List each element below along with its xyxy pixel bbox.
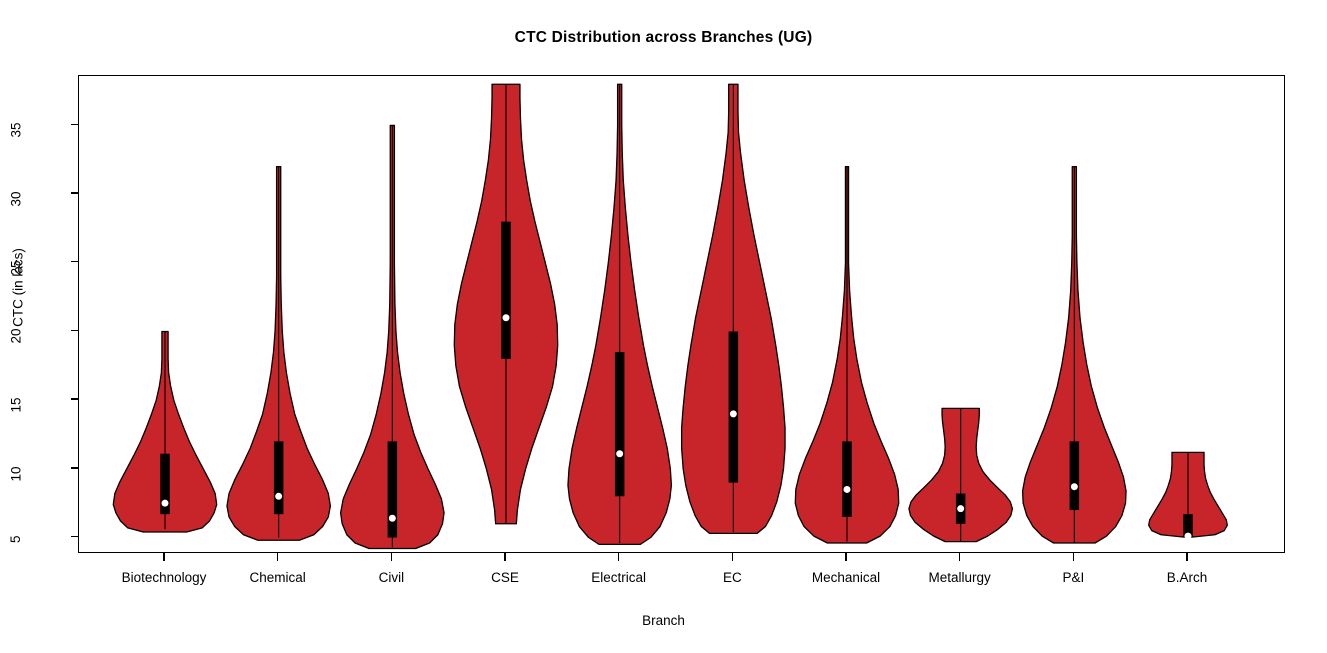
x-axis-tick-mark [1073, 553, 1074, 561]
y-axis-tick-mark [71, 536, 78, 537]
x-axis-tick-label-biotechnology: Biotechnology [122, 570, 207, 585]
x-axis-title: Branch [0, 613, 1327, 628]
x-axis-tick-label-b-arch: B.Arch [1167, 570, 1208, 585]
violin-iqr-box [1070, 441, 1080, 510]
y-axis-tick-label: 5 [9, 535, 24, 543]
x-axis-tick-mark [391, 553, 392, 561]
violin-b-arch[interactable] [1149, 452, 1228, 539]
y-axis-tick-mark [71, 192, 78, 193]
violin-chart-page: CTC Distribution across Branches (UG) CT… [0, 0, 1327, 653]
y-axis-tick-mark [71, 261, 78, 262]
violin-median-dot [1071, 483, 1078, 490]
violin-electrical[interactable] [568, 84, 671, 544]
violin-iqr-box [274, 441, 284, 514]
y-axis-tick-label: 20 [9, 329, 24, 344]
violin-civil[interactable] [341, 125, 444, 548]
violin-median-dot [616, 450, 623, 457]
violin-ec[interactable] [682, 84, 785, 533]
x-axis-tick-label-mechanical: Mechanical [812, 570, 880, 585]
y-axis-tick-label: 35 [9, 123, 24, 138]
y-axis-tick-mark [71, 124, 78, 125]
page-title: CTC Distribution across Branches (UG) [0, 29, 1327, 47]
violin-median-dot [957, 505, 964, 512]
x-axis-tick-label-civil: Civil [379, 570, 405, 585]
y-axis-tick-label: 25 [9, 260, 24, 275]
x-axis-tick-mark [959, 553, 960, 561]
violin-iqr-box [388, 441, 398, 537]
x-axis-tick-label-p-i: P&I [1062, 570, 1084, 585]
violin-iqr-box [501, 222, 511, 359]
x-axis-tick-label-ec: EC [723, 570, 742, 585]
x-axis-tick-mark [504, 553, 505, 561]
y-axis-tick-mark [71, 330, 78, 331]
plot-area [78, 75, 1285, 553]
x-axis-tick-label-chemical: Chemical [250, 570, 306, 585]
violin-median-dot [275, 493, 282, 500]
x-axis-tick-mark [845, 553, 846, 561]
violin-median-dot [389, 515, 396, 522]
x-axis-tick-mark [277, 553, 278, 561]
violin-plot-svg [79, 76, 1286, 554]
x-axis-tick-label-cse: CSE [491, 570, 519, 585]
y-axis-tick-mark [71, 467, 78, 468]
violin-iqr-box [615, 352, 625, 496]
y-axis-tick-label: 30 [9, 192, 24, 207]
violin-biotechnology[interactable] [113, 331, 216, 532]
violin-median-dot [503, 314, 510, 321]
x-axis-tick-mark [163, 553, 164, 561]
y-axis: CTC (in lacs) 5101520253035 [0, 0, 78, 653]
y-axis-tick-label: 10 [9, 466, 24, 481]
violin-median-dot [162, 500, 169, 507]
violin-iqr-box [729, 331, 739, 482]
violin-metallurgy[interactable] [909, 408, 1012, 541]
y-axis-tick-label: 15 [9, 398, 24, 413]
violin-mechanical[interactable] [795, 167, 898, 543]
x-axis-tick-label-metallurgy: Metallurgy [929, 570, 991, 585]
x-axis-tick-label-electrical: Electrical [591, 570, 646, 585]
x-axis-tick-mark [1186, 553, 1187, 561]
y-axis-tick-mark [71, 398, 78, 399]
violin-chemical[interactable] [227, 167, 330, 541]
violin-iqr-box [842, 441, 852, 517]
violin-cse[interactable] [454, 84, 557, 524]
violin-median-dot [730, 410, 737, 417]
x-axis-tick-mark [618, 553, 619, 561]
violin-p-i[interactable] [1023, 167, 1126, 543]
x-axis-tick-mark [732, 553, 733, 561]
violin-median-dot [1185, 533, 1192, 540]
violin-median-dot [844, 486, 851, 493]
